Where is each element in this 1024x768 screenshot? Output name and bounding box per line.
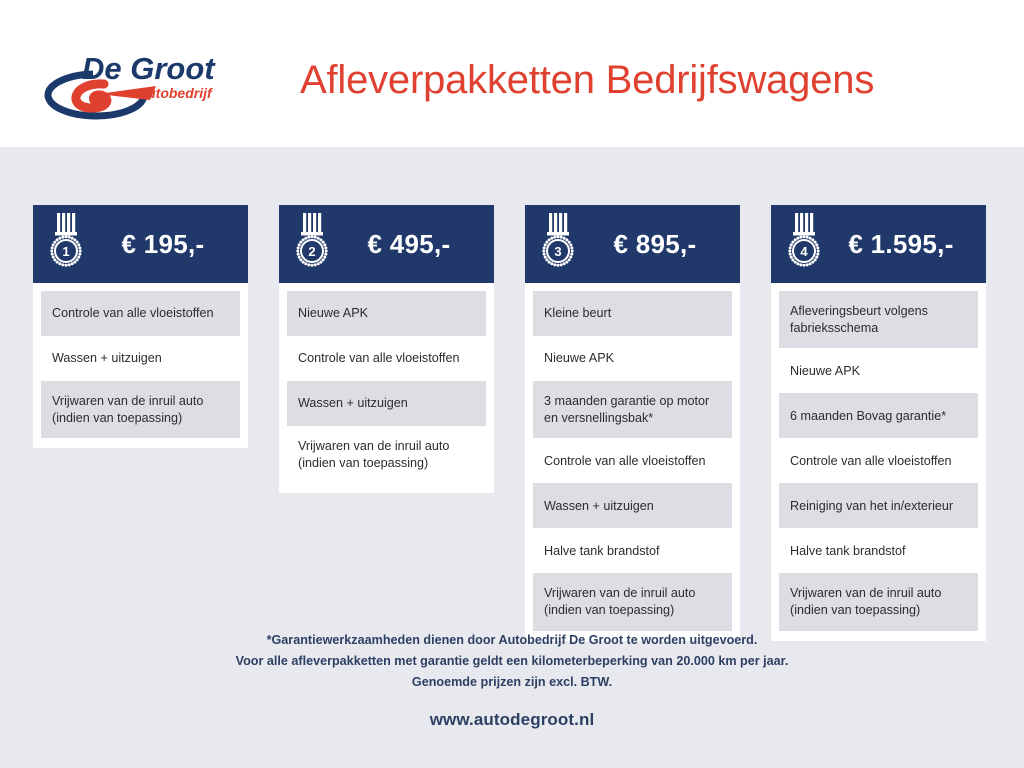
medal-icon: 2 xyxy=(292,212,332,274)
feature-row: Controle van alle vloeistoffen xyxy=(779,438,978,483)
feature-row: Nieuwe APK xyxy=(779,348,978,393)
package-card-header: 1€ 195,- xyxy=(33,205,248,283)
package-card-header: 4€ 1.595,- xyxy=(771,205,986,283)
medal-icon: 1 xyxy=(46,212,86,274)
medal-icon: 4 xyxy=(784,212,824,274)
feature-row: Wassen + uitzuigen xyxy=(41,336,240,381)
feature-label: Controle van alle vloeistoffen xyxy=(544,453,706,470)
logo-tagline: Autobedrijf xyxy=(136,85,213,101)
feature-row: Vrijwaren van de inruil auto (indien van… xyxy=(779,573,978,630)
package-feature-list: Nieuwe APKControle van alle vloeistoffen… xyxy=(279,283,494,493)
footer-disclaimer: *Garantiewerkzaamheden dienen door Autob… xyxy=(0,630,1024,692)
package-feature-list: Kleine beurtNieuwe APK3 maanden garantie… xyxy=(525,283,740,641)
package-price: € 195,- xyxy=(92,229,238,260)
feature-label: Wassen + uitzuigen xyxy=(52,350,162,367)
package-price: € 495,- xyxy=(338,229,484,260)
medal-icon: 3 xyxy=(538,212,578,274)
feature-row: 3 maanden garantie op motor en versnelli… xyxy=(533,381,732,438)
feature-row: Vrijwaren van de inruil auto (indien van… xyxy=(41,381,240,438)
page-header: De Groot Autobedrijf Afleverpakketten Be… xyxy=(0,0,1024,147)
footer-line: Genoemde prijzen zijn excl. BTW. xyxy=(0,672,1024,693)
feature-row: Kleine beurt xyxy=(533,291,732,336)
package-card-header: 3€ 895,- xyxy=(525,205,740,283)
logo-brand-name: De Groot xyxy=(82,51,216,86)
feature-label: Controle van alle vloeistoffen xyxy=(52,305,214,322)
feature-row: Controle van alle vloeistoffen xyxy=(287,336,486,381)
packages-container: 1€ 195,-Controle van alle vloeistoffenWa… xyxy=(33,205,991,641)
website-url-link[interactable]: www.autodegroot.nl xyxy=(0,710,1024,730)
feature-row: Reiniging van het in/exterieur xyxy=(779,483,978,528)
feature-label: Controle van alle vloeistoffen xyxy=(790,453,952,470)
package-price: € 895,- xyxy=(584,229,730,260)
svg-text:3: 3 xyxy=(554,244,561,259)
feature-row: Wassen + uitzuigen xyxy=(287,381,486,426)
footer-line: *Garantiewerkzaamheden dienen door Autob… xyxy=(0,630,1024,651)
feature-row: Halve tank brandstof xyxy=(779,528,978,573)
feature-row: Controle van alle vloeistoffen xyxy=(41,291,240,336)
feature-label: Halve tank brandstof xyxy=(544,543,660,560)
feature-label: Wassen + uitzuigen xyxy=(544,498,654,515)
feature-label: Reiniging van het in/exterieur xyxy=(790,498,953,515)
feature-row: Vrijwaren van de inruil auto (indien van… xyxy=(287,426,486,483)
feature-label: Afleveringsbeurt volgens fabrieksschema xyxy=(790,303,967,336)
feature-label: Kleine beurt xyxy=(544,305,611,322)
company-logo[interactable]: De Groot Autobedrijf xyxy=(38,48,253,120)
package-card[interactable]: 4€ 1.595,-Afleveringsbeurt volgens fabri… xyxy=(771,205,986,641)
package-card[interactable]: 3€ 895,-Kleine beurtNieuwe APK3 maanden … xyxy=(525,205,740,641)
feature-row: Nieuwe APK xyxy=(287,291,486,336)
package-card-header: 2€ 495,- xyxy=(279,205,494,283)
package-card[interactable]: 2€ 495,-Nieuwe APKControle van alle vloe… xyxy=(279,205,494,493)
feature-label: Wassen + uitzuigen xyxy=(298,395,408,412)
feature-row: 6 maanden Bovag garantie* xyxy=(779,393,978,438)
package-feature-list: Controle van alle vloeistoffenWassen + u… xyxy=(33,283,248,448)
package-price: € 1.595,- xyxy=(830,229,976,260)
footer-line: Voor alle afleverpakketten met garantie … xyxy=(0,651,1024,672)
svg-text:4: 4 xyxy=(800,244,808,259)
package-card[interactable]: 1€ 195,-Controle van alle vloeistoffenWa… xyxy=(33,205,248,448)
feature-label: Vrijwaren van de inruil auto (indien van… xyxy=(298,438,475,471)
feature-label: Controle van alle vloeistoffen xyxy=(298,350,460,367)
feature-label: Vrijwaren van de inruil auto (indien van… xyxy=(790,585,967,618)
feature-row: Controle van alle vloeistoffen xyxy=(533,438,732,483)
feature-label: 3 maanden garantie op motor en versnelli… xyxy=(544,393,721,426)
feature-label: Nieuwe APK xyxy=(790,363,860,380)
feature-row: Nieuwe APK xyxy=(533,336,732,381)
package-feature-list: Afleveringsbeurt volgens fabrieksschemaN… xyxy=(771,283,986,641)
feature-label: Nieuwe APK xyxy=(298,305,368,322)
svg-text:1: 1 xyxy=(62,244,69,259)
feature-row: Afleveringsbeurt volgens fabrieksschema xyxy=(779,291,978,348)
svg-text:2: 2 xyxy=(308,244,315,259)
feature-label: Vrijwaren van de inruil auto (indien van… xyxy=(52,393,229,426)
feature-row: Vrijwaren van de inruil auto (indien van… xyxy=(533,573,732,630)
feature-label: Halve tank brandstof xyxy=(790,543,906,560)
page-footer: *Garantiewerkzaamheden dienen door Autob… xyxy=(0,630,1024,730)
feature-label: Nieuwe APK xyxy=(544,350,614,367)
logo-graphic: De Groot Autobedrijf xyxy=(38,48,253,120)
feature-label: Vrijwaren van de inruil auto (indien van… xyxy=(544,585,721,618)
feature-label: 6 maanden Bovag garantie* xyxy=(790,408,946,425)
feature-row: Halve tank brandstof xyxy=(533,528,732,573)
page-title: Afleverpakketten Bedrijfswagens xyxy=(300,58,874,103)
feature-row: Wassen + uitzuigen xyxy=(533,483,732,528)
